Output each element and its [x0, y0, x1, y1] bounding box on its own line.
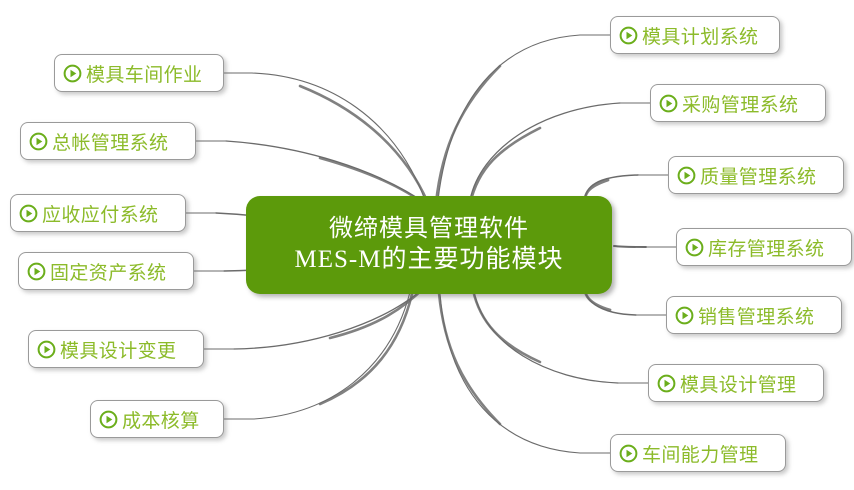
mindmap-canvas: 微缔模具管理软件 MES-M的主要功能模块 模具车间作业总帐管理系统应收应付系统… — [0, 0, 854, 490]
connector-right-6b — [473, 290, 540, 362]
leaf-label: 车间能力管理 — [642, 440, 758, 467]
leaf-node-left-2[interactable]: 总帐管理系统 — [20, 122, 196, 160]
connector-right-1b — [436, 66, 500, 203]
leaf-label: 模具计划系统 — [642, 22, 758, 49]
play-circle-icon — [675, 306, 698, 325]
connector-right-1a — [438, 35, 580, 200]
connector-right-4a — [614, 246, 646, 247]
center-title-line-1: 微缔模具管理软件 — [329, 214, 529, 245]
connector-right-2a — [470, 103, 620, 200]
connector-left-5a — [234, 288, 424, 349]
leaf-label: 成本核算 — [122, 406, 200, 433]
leaf-label: 应收应付系统 — [42, 200, 158, 227]
leaf-node-right-2[interactable]: 采购管理系统 — [650, 84, 826, 122]
leaf-node-left-4[interactable]: 固定资产系统 — [18, 252, 194, 290]
leaf-node-right-3[interactable]: 质量管理系统 — [668, 156, 844, 194]
play-circle-icon — [677, 166, 700, 185]
connector-left-6b — [320, 294, 412, 404]
play-circle-icon — [37, 340, 60, 359]
connector-right-7b — [439, 293, 500, 424]
leaf-node-right-1[interactable]: 模具计划系统 — [610, 16, 780, 54]
leaf-node-right-4[interactable]: 库存管理系统 — [676, 228, 852, 266]
leaf-label: 质量管理系统 — [700, 162, 816, 189]
play-circle-icon — [657, 374, 680, 393]
leaf-node-right-6[interactable]: 模具设计管理 — [648, 364, 824, 402]
connector-left-1b — [300, 86, 428, 203]
leaf-node-left-5[interactable]: 模具设计变更 — [28, 330, 204, 368]
leaf-label: 采购管理系统 — [682, 90, 798, 117]
connector-right-7a — [440, 294, 580, 453]
connector-right-2b — [470, 128, 540, 204]
leaf-node-left-3[interactable]: 应收应付系统 — [10, 194, 186, 232]
connector-left-6a — [254, 292, 410, 419]
play-circle-icon — [659, 94, 682, 113]
leaf-label: 模具设计管理 — [680, 370, 796, 397]
leaf-node-left-6[interactable]: 成本核算 — [90, 400, 224, 438]
connector-right-6a — [474, 292, 618, 383]
leaf-node-right-5[interactable]: 销售管理系统 — [666, 296, 842, 334]
leaf-label: 模具车间作业 — [86, 60, 202, 87]
leaf-label: 模具设计变更 — [60, 336, 176, 363]
leaf-label: 库存管理系统 — [708, 234, 824, 261]
play-circle-icon — [619, 26, 642, 45]
play-circle-icon — [63, 64, 86, 83]
play-circle-icon — [27, 262, 50, 281]
leaf-node-left-1[interactable]: 模具车间作业 — [54, 54, 224, 92]
play-circle-icon — [19, 204, 42, 223]
play-circle-icon — [685, 238, 708, 257]
play-circle-icon — [29, 132, 52, 151]
leaf-label: 总帐管理系统 — [52, 128, 168, 155]
play-circle-icon — [99, 410, 122, 429]
center-node[interactable]: 微缔模具管理软件 MES-M的主要功能模块 — [246, 196, 612, 294]
leaf-label: 固定资产系统 — [50, 258, 166, 285]
connector-left-1a — [252, 73, 425, 200]
center-title-line-2: MES-M的主要功能模块 — [295, 244, 564, 276]
play-circle-icon — [619, 444, 642, 463]
leaf-label: 销售管理系统 — [698, 302, 814, 329]
leaf-node-right-7[interactable]: 车间能力管理 — [610, 434, 786, 472]
